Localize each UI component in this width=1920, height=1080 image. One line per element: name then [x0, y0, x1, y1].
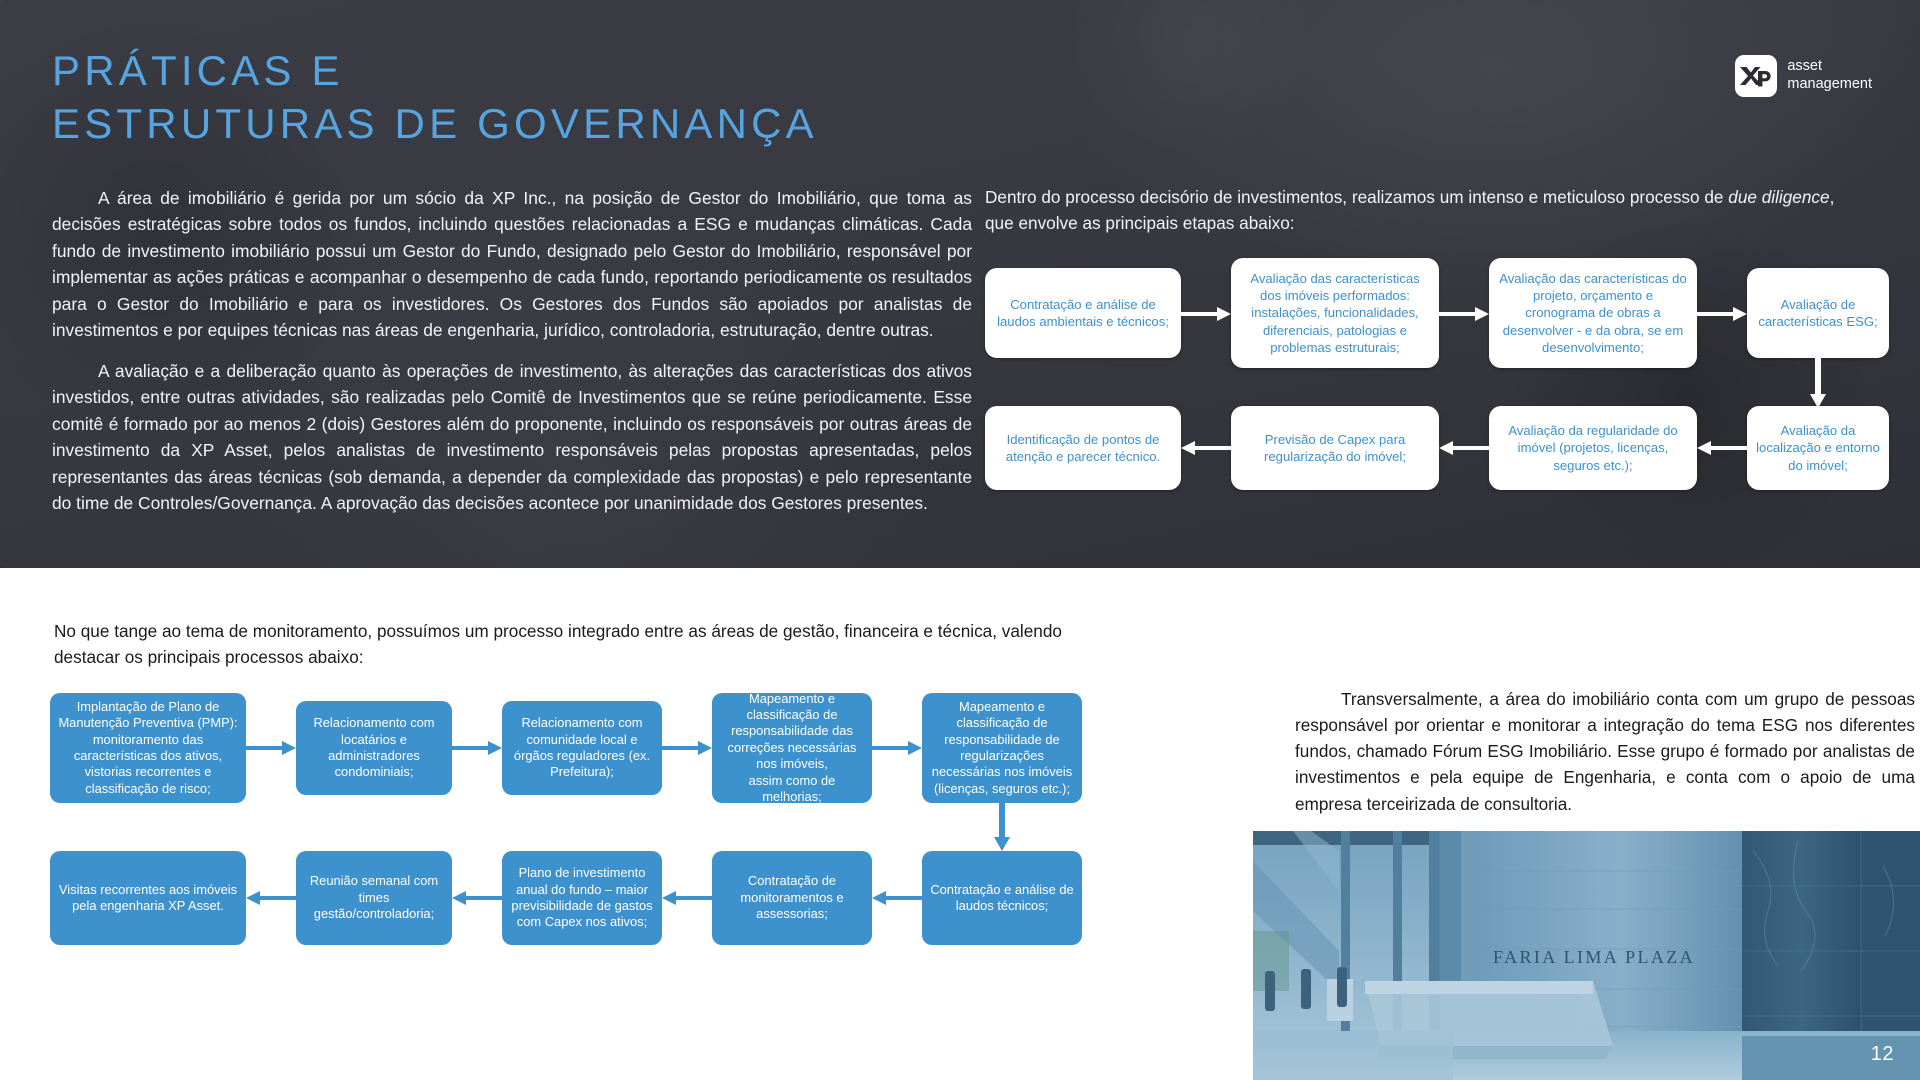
xp-logo-mark-icon [1735, 55, 1777, 97]
dd-step-6-box: Avaliação da regularidade do imóvel (pro… [1489, 406, 1697, 490]
mon-step-7-label: Contratação de monitoramentos e assessor… [719, 873, 865, 922]
mon-step-5-label: Mapeamento e classificação de responsabi… [929, 699, 1075, 797]
dd-step-2-label: Avaliação das características dos imóvei… [1239, 270, 1431, 355]
mon-arrow-3-to-4 [662, 740, 712, 756]
dd-step-4-label: Avaliação de características ESG; [1755, 296, 1881, 330]
mon-step-10-box: Visitas recorrentes aos imóveis pela eng… [50, 851, 246, 945]
dd-step-8-box: Identificação de pontos de atenção e par… [985, 406, 1181, 490]
dd-arrow-6-to-7 [1439, 440, 1489, 456]
mon-step-3-label: Relacionamento com comunidade local e ór… [509, 715, 655, 781]
page-number: 12 [1871, 1043, 1894, 1066]
monitoring-flow-diagram: Implantação de Plano de Manutenção Preve… [50, 693, 1200, 973]
xp-asset-management-logo: asset management [1735, 55, 1872, 97]
mon-step-8-box: Plano de investimento anual do fundo – m… [502, 851, 662, 945]
mon-arrow-2-to-3 [452, 740, 502, 756]
dd-arrow-7-to-8 [1181, 440, 1231, 456]
page-title: PRÁTICAS E ESTRUTURAS DE GOVERNANÇA [52, 45, 818, 151]
dark-hero-section: PRÁTICAS E ESTRUTURAS DE GOVERNANÇA asse… [0, 0, 1920, 568]
dd-step-3-box: Avaliação das características do projeto… [1489, 258, 1697, 368]
dd-step-7-label: Previsão de Capex para regularização do … [1239, 431, 1431, 465]
lobby-photo-illustration: FARIA LIMA PLAZA [1253, 831, 1920, 1080]
dd-step-2-box: Avaliação das características dos imóvei… [1231, 258, 1439, 368]
mon-step-3-box: Relacionamento com comunidade local e ór… [502, 701, 662, 795]
transversal-paragraph: Transversalmente, a área do imobiliário … [1295, 686, 1915, 817]
dd-step-1-label: Contratação e análise de laudos ambienta… [993, 296, 1173, 330]
mon-step-6-label: Contratação e análise de laudos técnicos… [929, 882, 1075, 915]
mon-step-8-label: Plano de investimento anual do fundo – m… [509, 865, 655, 931]
document-page: PRÁTICAS E ESTRUTURAS DE GOVERNANÇA asse… [0, 0, 1920, 1080]
mon-arrow-4-to-5 [872, 740, 922, 756]
governance-text-column: A área de imobiliário é gerida por um só… [52, 185, 972, 530]
faria-lima-plaza-lobby-photo: FARIA LIMA PLAZA [1253, 831, 1920, 1080]
monitoring-intro-text: No que tange ao tema de monitoramento, p… [54, 618, 1114, 670]
logo-text-line2: management [1787, 76, 1872, 94]
dd-arrow-2-to-3 [1439, 306, 1489, 322]
mon-step-4-box: Mapeamento e classificação de responsabi… [712, 693, 872, 803]
mon-step-2-box: Relacionamento com locatários e administ… [296, 701, 452, 795]
governance-paragraph-1: A área de imobiliário é gerida por um só… [52, 185, 972, 344]
mon-arrow-1-to-2 [246, 740, 296, 756]
mon-step-6-box: Contratação e análise de laudos técnicos… [922, 851, 1082, 945]
dd-step-5-box: Avaliação da localização e entorno do im… [1747, 406, 1889, 490]
due-diligence-intro: Dentro do processo decisório de investim… [985, 185, 1865, 237]
mon-step-4-label: Mapeamento e classificação de responsabi… [719, 691, 865, 806]
dd-step-6-label: Avaliação da regularidade do imóvel (pro… [1497, 422, 1689, 473]
mon-arrow-9-to-10 [246, 890, 296, 906]
logo-text-line1: asset [1787, 58, 1872, 76]
dd-step-7-box: Previsão de Capex para regularização do … [1231, 406, 1439, 490]
dd-step-8-label: Identificação de pontos de atenção e par… [993, 431, 1173, 465]
dd-arrow-1-to-2 [1181, 306, 1231, 322]
dd-step-3-label: Avaliação das características do projeto… [1497, 270, 1689, 355]
logo-text: asset management [1787, 58, 1872, 93]
due-diligence-flow-diagram: Contratação e análise de laudos ambienta… [985, 258, 1890, 508]
due-diligence-intro-part1: Dentro do processo decisório de investim… [985, 187, 1728, 207]
governance-paragraph-2: A avaliação e a deliberação quanto às op… [52, 358, 972, 517]
mon-step-1-box: Implantação de Plano de Manutenção Preve… [50, 693, 246, 803]
dd-step-1-box: Contratação e análise de laudos ambienta… [985, 268, 1181, 358]
mon-arrow-6-to-7 [872, 890, 922, 906]
dd-step-4-box: Avaliação de características ESG; [1747, 268, 1889, 358]
mon-step-5-box: Mapeamento e classificação de responsabi… [922, 693, 1082, 803]
mon-step-10-label: Visitas recorrentes aos imóveis pela eng… [57, 882, 239, 915]
mon-step-9-label: Reunião semanal com times gestão/control… [303, 873, 445, 922]
dd-arrow-5-to-6 [1697, 440, 1747, 456]
light-bottom-section: No que tange ao tema de monitoramento, p… [0, 568, 1920, 1080]
mon-step-7-box: Contratação de monitoramentos e assessor… [712, 851, 872, 945]
mon-step-9-box: Reunião semanal com times gestão/control… [296, 851, 452, 945]
dd-arrow-3-to-4 [1697, 306, 1747, 322]
mon-step-1-label: Implantação de Plano de Manutenção Preve… [57, 699, 239, 797]
dd-arrow-4-to-5 [1810, 358, 1826, 408]
mon-step-2-label: Relacionamento com locatários e administ… [303, 715, 445, 781]
dd-step-5-label: Avaliação da localização e entorno do im… [1755, 422, 1881, 473]
due-diligence-intro-italic: due diligence [1728, 187, 1829, 207]
mon-arrow-8-to-9 [452, 890, 502, 906]
mon-arrow-7-to-8 [662, 890, 712, 906]
mon-arrow-5-to-6 [994, 803, 1010, 851]
